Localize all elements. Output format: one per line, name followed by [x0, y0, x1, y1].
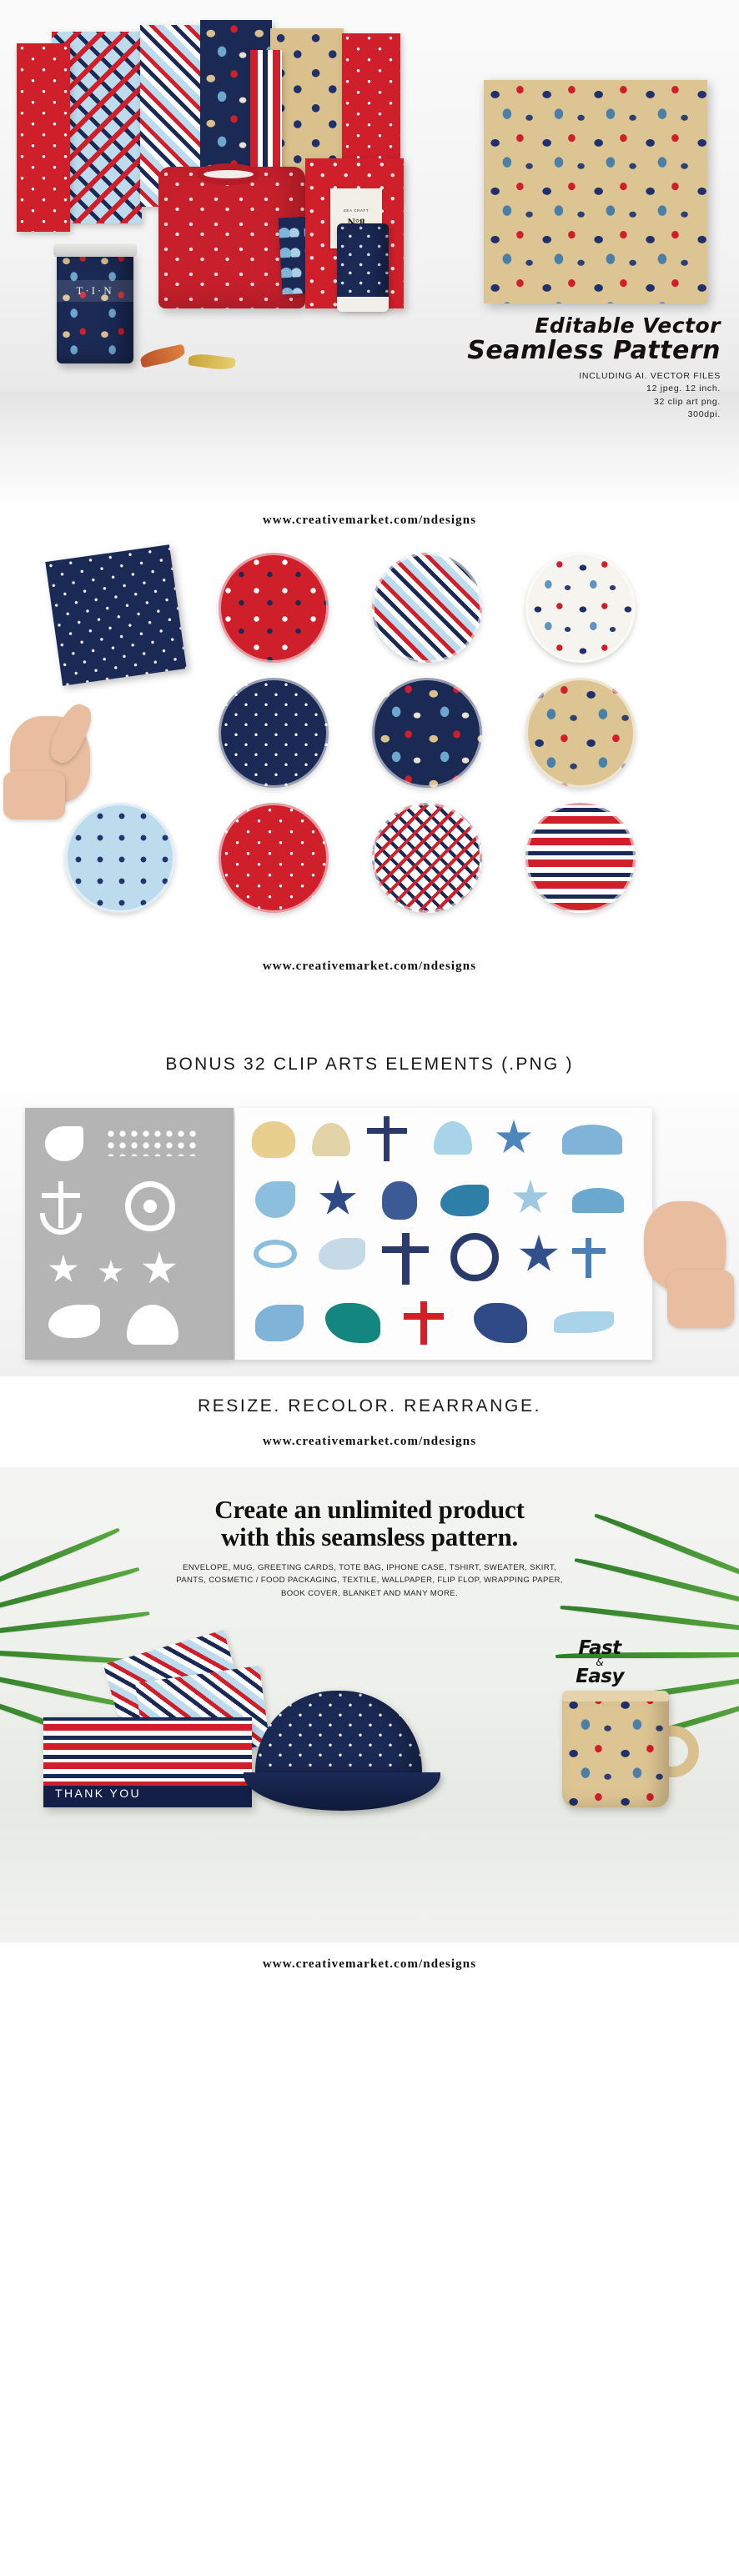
hand-wrist-right: [667, 1270, 734, 1328]
promo-list-line1: ENVELOPE, MUG, GREETING CARDS, TOTE BAG,…: [72, 1561, 667, 1575]
clipart-strip: [0, 1093, 739, 1376]
cap-brim: [244, 1772, 440, 1811]
octopus-icon: [252, 1121, 295, 1158]
seagull-teal-icon: [440, 1185, 489, 1216]
clipart-white-card: [235, 1108, 652, 1360]
spec-line-3: 32 clip art png.: [460, 396, 721, 408]
coral-icon: [255, 1305, 304, 1341]
thank-you-text: THANK YOU: [55, 1787, 141, 1800]
paisley-wave-navy-icon: [474, 1303, 527, 1343]
clipart-url[interactable]: www.creativemarket.com/ndesigns: [0, 1430, 739, 1467]
spec-line-1: INCLUDING AI. VECTOR FILES: [460, 370, 721, 383]
hero-title-line2: Seamless Pattern: [460, 338, 721, 364]
tshirt-collar: [197, 163, 260, 185]
plates-url[interactable]: www.creativemarket.com/ndesigns: [0, 960, 739, 974]
mockup-tin-can: [57, 250, 133, 363]
thank-you-card: THANK YOU: [43, 1717, 252, 1807]
nautilus-blue-icon: [255, 1181, 295, 1218]
starfish-icon-3: [142, 1251, 177, 1286]
nautilus-icon: [45, 1126, 83, 1161]
starfish-navy-icon: [319, 1180, 357, 1218]
hand-pointing-right: [627, 1193, 736, 1360]
hero-title-line1: Editable Vector: [460, 315, 721, 337]
pattern-poster-kraft-shells: [484, 80, 707, 303]
fast-easy-badge: Fast & Easy: [576, 1637, 624, 1687]
promo-url[interactable]: www.creativemarket.com/ndesigns: [0, 1942, 739, 1990]
anchor-navy-icon: [384, 1116, 390, 1161]
product-showcase-page: SEA CRAFT N°8 T·I·N Editable Vector Seam…: [0, 0, 739, 2576]
clipart-section: BONUS 32 CLIP ARTS ELEMENTS (.PNG ): [0, 1033, 739, 1467]
tin-label-text: T·I·N: [76, 284, 113, 298]
mug-body: [562, 1691, 669, 1807]
scallop-shell-icon: [127, 1305, 178, 1345]
plate-mix-red: [219, 553, 329, 663]
anchor-small-blue-icon: [586, 1238, 591, 1278]
hand-holding-swatch: [10, 666, 185, 820]
plate-anchor-navy: [219, 678, 329, 788]
fish-icon: [554, 1311, 614, 1333]
starfish-dark-icon: [519, 1235, 559, 1275]
mug-mockup: [562, 1691, 704, 1807]
starfish-light-icon: [512, 1180, 549, 1216]
seagull-white-icon: [319, 1238, 365, 1270]
leaf-decoration-1: [139, 344, 187, 368]
starfish-icon-1: [48, 1255, 78, 1285]
anchor-big-navy-icon: [402, 1233, 410, 1285]
seashell-icon-cream: [312, 1123, 350, 1156]
ships-wheel-hub-icon: [143, 1200, 157, 1213]
hand-wrist: [3, 771, 65, 819]
anchor-red-icon: [420, 1301, 427, 1345]
leaf-decoration-2: [188, 352, 236, 372]
pattern-sheet-stripe-vertical: [250, 50, 282, 175]
paisley-wave-teal-icon: [325, 1303, 380, 1343]
pearl-strand-icon: [105, 1128, 197, 1156]
promo-list-line2: PANTS, COSMETIC / FOOD PACKAGING, TEXTIL…: [72, 1574, 667, 1587]
tube-cap: [337, 297, 389, 312]
palm-leaf: [0, 1611, 150, 1636]
shell-fan-blue-icon: [434, 1121, 472, 1155]
tin-label: T·I·N: [57, 280, 133, 302]
promo-list-line3: BOOK COVER, BLANKET AND MANY MORE.: [72, 1587, 667, 1601]
promo-headline-line2: with this seamsless pattern.: [0, 1523, 739, 1551]
plate-shell-kraft: [525, 678, 636, 788]
plate-stripe-diagonal: [372, 553, 482, 663]
promo-headline-line1: Create an unlimited product: [0, 1496, 739, 1523]
plates-section: www.creativemarket.com/ndesigns: [0, 543, 739, 1033]
ships-wheel-navy-icon: [450, 1233, 499, 1281]
hero-specs: INCLUDING AI. VECTOR FILES 12 jpeg. 12 i…: [460, 370, 721, 421]
badge-line-easy: Easy: [576, 1666, 624, 1687]
starfish-icon-2: [98, 1260, 123, 1285]
cap-crown: [255, 1691, 422, 1784]
anchor-crossbar-icon: [42, 1193, 80, 1198]
promo-product-list: ENVELOPE, MUG, GREETING CARDS, TOTE BAG,…: [0, 1551, 739, 1601]
anchor-fluke-icon: [40, 1213, 82, 1235]
spec-line-2: 12 jpeg. 12 inch.: [460, 383, 721, 395]
clipart-heading: BONUS 32 CLIP ARTS ELEMENTS (.PNG ): [0, 1033, 739, 1093]
plate-stripe-horizontal: [525, 803, 636, 913]
tin-lid: [53, 243, 137, 257]
pattern-sheet-anchor-red: [17, 43, 70, 232]
anchor-navy-bar-icon: [367, 1128, 407, 1134]
hero-url[interactable]: www.creativemarket.com/ndesigns: [0, 500, 739, 543]
promo-section: Create an unlimited product with this se…: [0, 1467, 739, 1942]
hero-text-block: Editable Vector Seamless Pattern INCLUDI…: [460, 315, 721, 421]
clipart-subheading: RESIZE. RECOLOR. REARRANGE.: [0, 1376, 739, 1430]
plate-shell-white: [525, 553, 636, 663]
plate-shell-navy: [372, 678, 482, 788]
plate-anchor-red: [219, 803, 329, 913]
knot-icon: [254, 1240, 297, 1268]
anchor-red-bar-icon: [404, 1313, 444, 1320]
wave-icon-2: [572, 1188, 624, 1213]
anchor-small-bar-icon: [572, 1248, 606, 1254]
palm-leaf: [560, 1603, 739, 1634]
held-pattern-swatch: [45, 544, 186, 685]
baseball-cap-mockup: [244, 1691, 440, 1816]
bag-label-small: SEA CRAFT: [344, 208, 369, 213]
seagull-icon: [48, 1305, 100, 1338]
conch-icon: [382, 1181, 417, 1220]
mug-rim: [562, 1691, 669, 1701]
promo-headline: Create an unlimited product with this se…: [0, 1467, 739, 1551]
wave-icon-1: [562, 1125, 622, 1155]
hero-section: SEA CRAFT N°8 T·I·N Editable Vector Seam…: [0, 0, 739, 500]
plate-zigzag: [372, 803, 482, 913]
spec-line-4: 300dpi.: [460, 408, 721, 421]
anchor-big-bar-icon: [382, 1246, 429, 1253]
clipart-grey-card: [25, 1108, 234, 1360]
starfish-blue-icon: [495, 1120, 532, 1156]
